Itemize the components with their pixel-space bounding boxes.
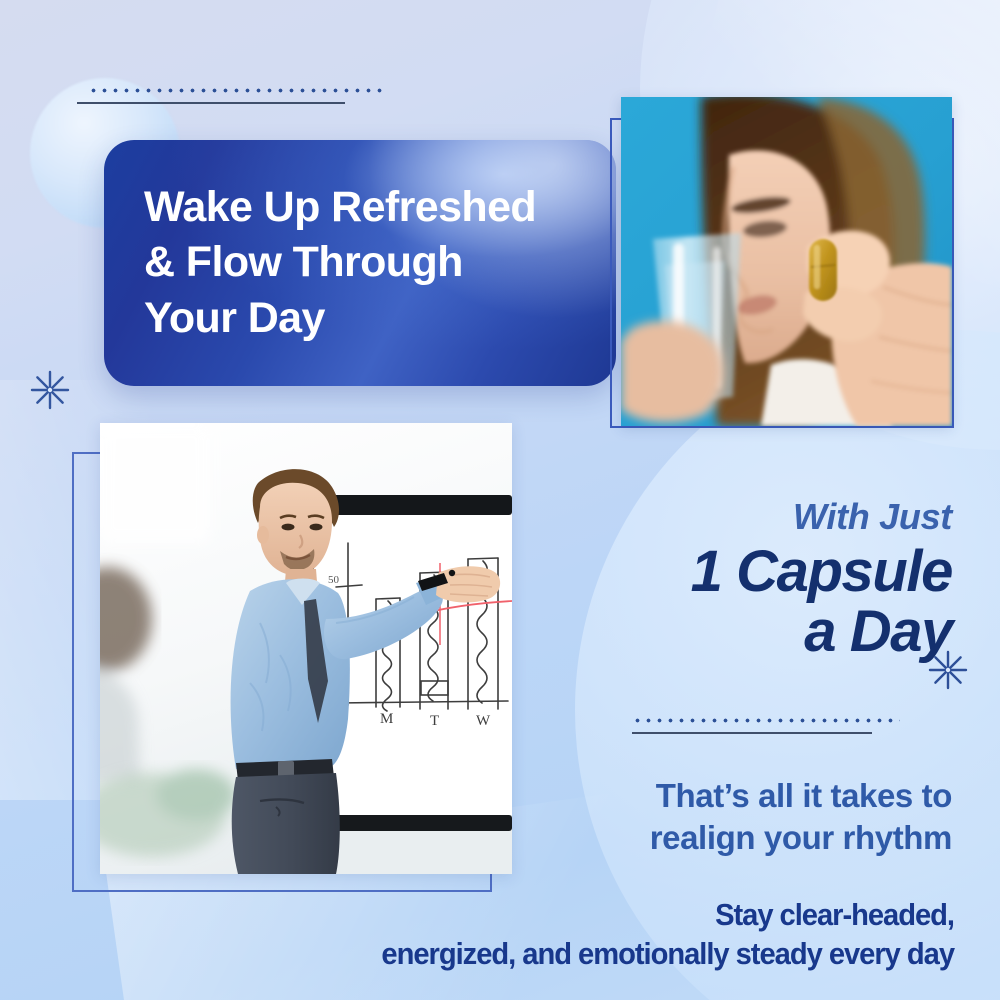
big-headline-text: 1 Capsule a Day: [500, 542, 952, 663]
divider-top-left: [88, 88, 388, 104]
divider-dotted-row: [88, 88, 388, 93]
svg-text:W: W: [476, 713, 491, 729]
sparkle-icon-left: [28, 368, 72, 417]
photo-woman-taking-capsule: [621, 97, 952, 426]
photo-man-at-flipchart: 50 25 M T W: [100, 423, 512, 874]
svg-text:M: M: [380, 711, 393, 727]
svg-text:50: 50: [328, 574, 340, 586]
promo-poster: Wake Up Refreshed & Flow Through Your Da…: [0, 0, 1000, 1000]
divider-solid-line: [77, 102, 345, 104]
svg-text:T: T: [430, 713, 439, 729]
headline-text: Wake Up Refreshed & Flow Through Your Da…: [104, 180, 576, 345]
tagline-text: Stay clear-headed, energized, and emotio…: [123, 895, 954, 973]
right-text-column: With Just 1 Capsule a Day: [500, 498, 952, 662]
headline-panel: Wake Up Refreshed & Flow Through Your Da…: [104, 140, 616, 386]
kicker-text: With Just: [500, 498, 952, 536]
divider-right: [632, 718, 900, 734]
subcopy-text: That’s all it takes to realign your rhyt…: [470, 775, 952, 859]
divider-solid-line: [632, 732, 872, 734]
divider-dotted-row: [632, 718, 900, 723]
